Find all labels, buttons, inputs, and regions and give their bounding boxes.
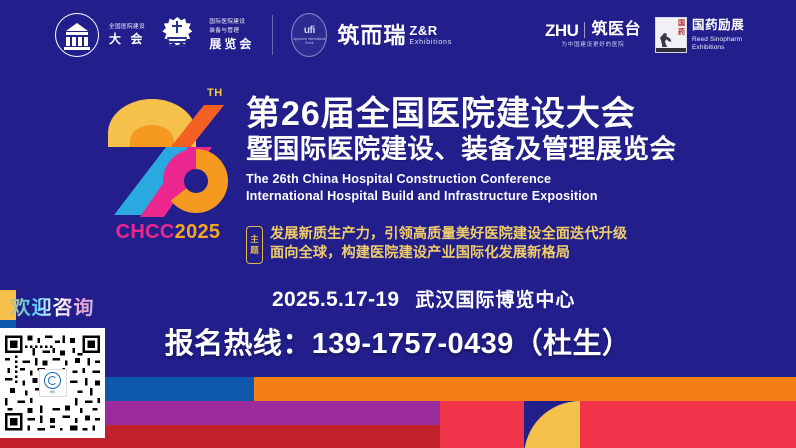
chcc-wordmark-letters: CHCC [116, 221, 175, 243]
reed-seal-icon: 国 药 [655, 17, 687, 53]
zr-chinese: 筑而瑞 [337, 25, 406, 47]
theme-line-1: 发展新质生产力，引领高质量美好医院建设全面迭代升级 [270, 225, 627, 244]
zhu-yi-tai-logo: ZHU 筑医台 为中国建设更好的医院 [545, 22, 641, 49]
logo-exhibition-big: 展览会 [209, 38, 254, 50]
logo-conference-small: 全国医院建设 [109, 25, 145, 31]
zhu-divider [584, 22, 585, 38]
logo-exhibition-small-1: 国际医院建设 [209, 20, 254, 26]
theme-badge-char-1: 主 [250, 234, 259, 245]
reed-english-2: Exhibitions [692, 44, 744, 51]
english-title-line-1: The 26th China Hospital Construction Con… [246, 171, 786, 188]
event-date: 2025.5.17-19 [272, 288, 399, 312]
header-logo-group-left: 全国医院建设 大 会 国际医院建设 装备与管理 展览会 ufi Approved… [55, 8, 452, 62]
logo-conference-big: 大 会 [109, 33, 145, 45]
logo-exhibition-small-2: 装备与管理 [209, 29, 254, 35]
zhu-slogan: 为中国建设更好的医院 [561, 43, 624, 49]
band-navy [0, 365, 796, 377]
zhu-english: ZHU [545, 22, 578, 39]
title-block: 第26届全国医院建设大会 暨国际医院建设、装备及管理展览会 The 26th C… [246, 96, 786, 205]
registration-hotline: 报名热线：139-1757-0439（杜生） [0, 320, 796, 362]
theme-block: 主 题 发展新质生产力，引领高质量美好医院建设全面迭代升级 面向全球，构建医院建… [246, 225, 627, 264]
chcc-wordmark-year: 2025 [175, 221, 221, 243]
reed-english-1: Reed Sinopharm [692, 36, 744, 43]
snowflake-cross-icon [155, 13, 199, 57]
chcc-wordmark: CHCC2025 [98, 222, 238, 242]
poster-body: TH CHCC2025 第26届全国医院建设大会 暨国际医院建设、装备及管理展览… [0, 70, 796, 365]
header-logo-group-right: ZHU 筑医台 为中国建设更好的医院 国 药 国药励展 Reed Sinopha… [545, 10, 744, 60]
header-logo-bar: 全国医院建设 大 会 国际医院建设 装备与管理 展览会 ufi Approved… [0, 0, 796, 70]
poster-root: 全国医院建设 大 会 国际医院建设 装备与管理 展览会 ufi Approved… [0, 0, 796, 448]
welcome-consultation-text: 欢迎咨询 [0, 298, 105, 318]
theme-line-2: 面向全球，构建医院建设产业国际化发展新格局 [270, 244, 627, 263]
logo-conference-text: 全国医院建设 大 会 [109, 25, 145, 46]
qr-consultation-panel[interactable]: 欢迎咨询 [0, 290, 105, 448]
qr-center-caption: 中国 [50, 390, 55, 394]
logo-exhibition-text: 国际医院建设 装备与管理 展览会 [209, 20, 254, 49]
event-venue: 武汉国际博览中心 [415, 285, 575, 312]
main-title-line-1: 第26届全国医院建设大会 [246, 96, 786, 133]
ufi-abbr: ufi [304, 26, 315, 36]
band-red [0, 425, 796, 448]
logo-superscript-th: TH [207, 87, 223, 99]
reed-mark-char-2: 药 [678, 29, 685, 36]
zhu-chinese: 筑医台 [591, 22, 641, 38]
event-date-venue: 2025.5.17-19 武汉国际博览中心 [272, 285, 575, 312]
qr-center-logo-icon: 中国 [39, 369, 67, 397]
chcc-26-logo-mark: TH [100, 85, 230, 235]
zr-english-sub: Exhibitions [409, 39, 452, 46]
classical-building-emblem-icon [55, 13, 99, 57]
header-divider-1 [272, 15, 273, 55]
ufi-seal-icon: ufi Approved International Event [291, 13, 327, 57]
theme-badge-char-2: 题 [250, 245, 259, 256]
reed-mark-char-1: 国 [678, 20, 685, 27]
zr-english-main: Z&R [409, 24, 452, 37]
bottom-color-bands [0, 365, 796, 448]
main-title-line-2: 暨国际医院建设、装备及管理展览会 [246, 135, 786, 165]
band-orange [0, 377, 796, 401]
band-purple [0, 401, 796, 425]
theme-badge: 主 题 [246, 226, 263, 264]
qr-code-icon[interactable]: 中国 [0, 328, 105, 438]
zr-exhibitions-logo: 筑而瑞 Z&R Exhibitions [337, 24, 452, 47]
ufi-caption: Approved International Event [292, 37, 326, 45]
english-title-line-2: International Hospital Build and Infrast… [246, 188, 786, 205]
reed-sinopharm-logo: 国 药 国药励展 Reed Sinopharm Exhibitions [655, 17, 744, 53]
reed-chinese: 国药励展 [692, 19, 744, 33]
